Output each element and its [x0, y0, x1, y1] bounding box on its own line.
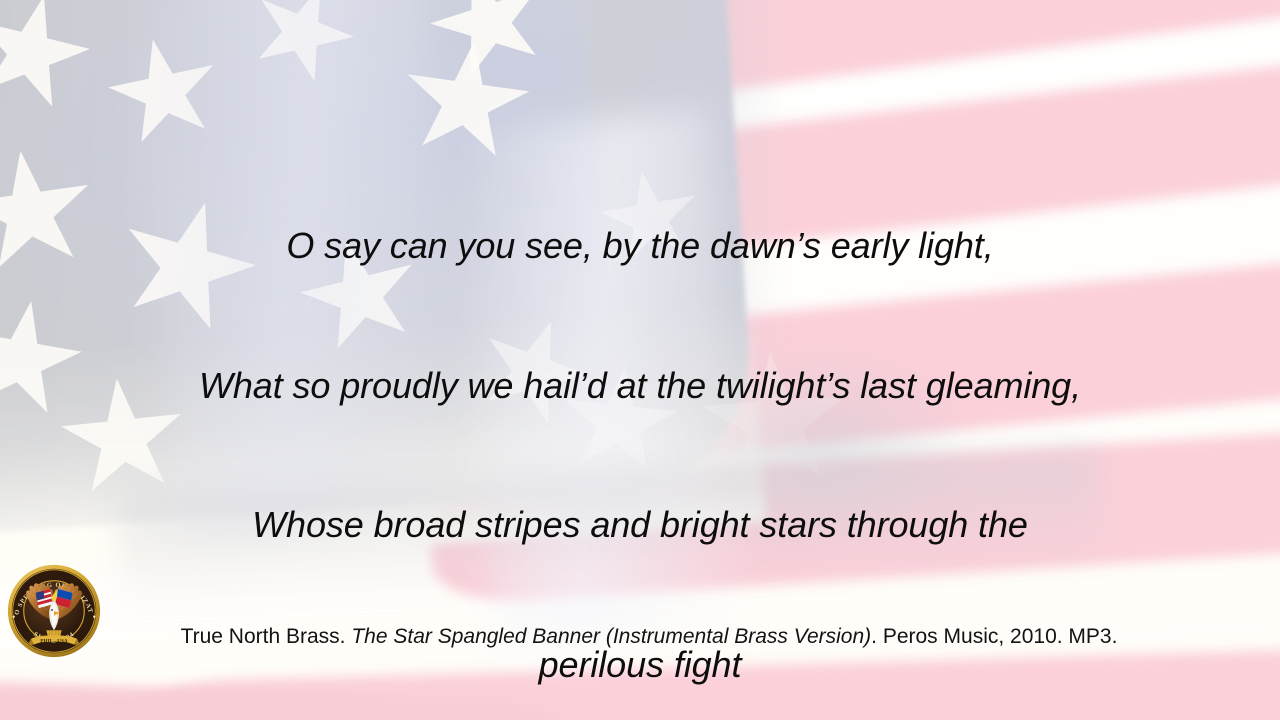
citation-work-title: The Star Spangled Banner (Instrumental B…: [351, 625, 871, 648]
citation-publication: . Peros Music, 2010. MP3.: [871, 625, 1117, 648]
lyric-line: O say can you see, by the dawn’s early l…: [0, 223, 1280, 270]
lyric-line: Whose broad stripes and bright stars thr…: [0, 502, 1280, 549]
slide-canvas: O say can you see, by the dawn’s early l…: [0, 0, 1280, 720]
citation: True North Brass. The Star Spangled Bann…: [0, 625, 1280, 649]
citation-author: True North Brass.: [181, 625, 352, 648]
seal-banner-text: PHIL - USA: [40, 639, 68, 645]
organization-seal-logo: CEBUANO SPEAKING ORGANIZATION INC. SINCE…: [6, 563, 102, 659]
lyric-line: What so proudly we hail’d at the twiligh…: [0, 363, 1280, 410]
